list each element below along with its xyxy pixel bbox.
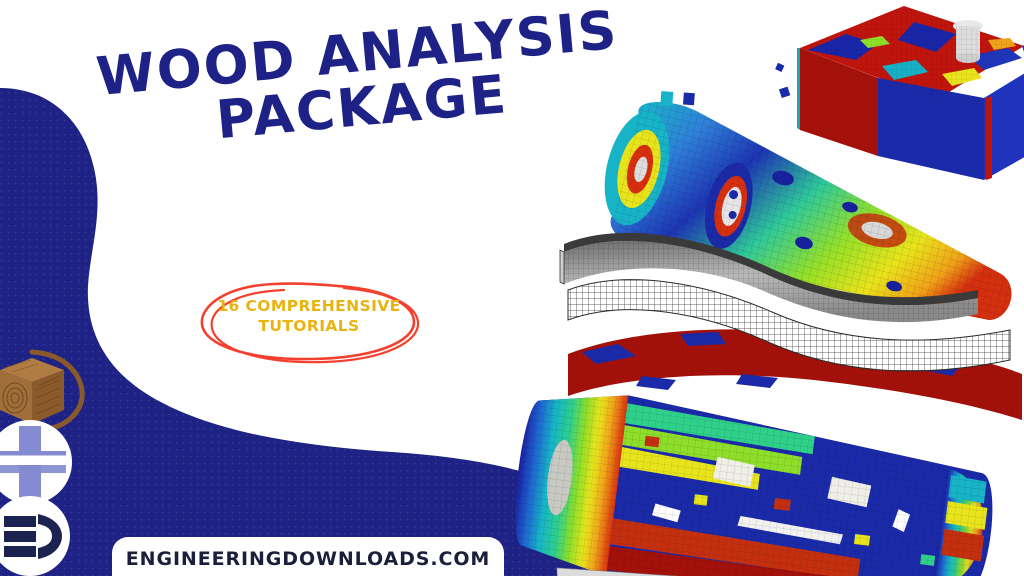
footer-url-bar: ENGINEERINGDOWNLOADS.COM [112, 537, 504, 576]
poster-canvas: WOOD ANALYSIS PACKAGE 16 COMPREHENSIVE T… [0, 0, 1024, 576]
badge-text: 16 COMPREHENSIVE TUTORIALS [188, 296, 430, 337]
badge-line-2: TUTORIALS [188, 316, 430, 336]
tutorials-badge: 16 COMPREHENSIVE TUTORIALS [188, 272, 430, 368]
fea-block-with-fastener [775, 6, 1024, 180]
footer-url-text: ENGINEERINGDOWNLOADS.COM [126, 548, 490, 570]
fea-artwork-group [500, 0, 1024, 576]
badge-line-1: 16 COMPREHENSIVE [188, 296, 430, 316]
fea-beam-damage [506, 383, 1002, 576]
engineering-downloads-logo-icon [0, 492, 78, 576]
